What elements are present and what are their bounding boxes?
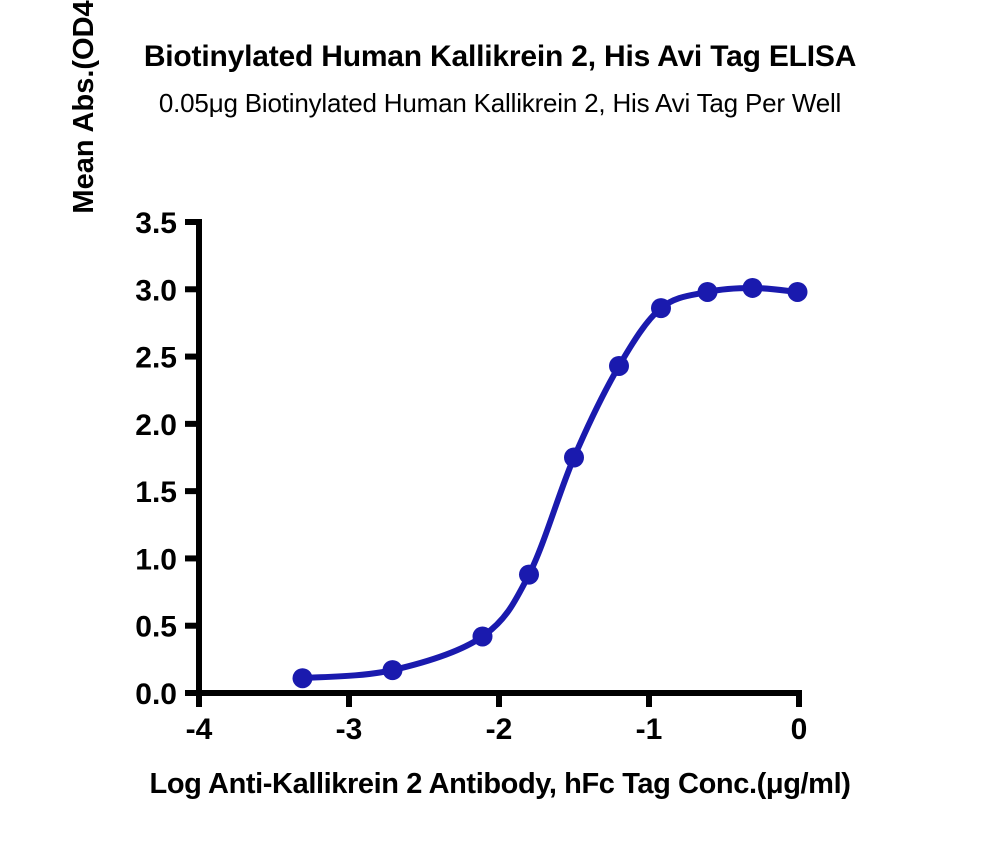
series-curve-group: [303, 288, 798, 678]
y-tick-label: 1.5: [135, 476, 177, 509]
y-tick-label: 1.0: [135, 543, 177, 576]
data-point-marker: [383, 660, 403, 680]
y-tick-label: 3.5: [135, 207, 177, 240]
elisa-chart-figure: Biotinylated Human Kallikrein 2, His Avi…: [0, 0, 1000, 849]
data-point-marker: [564, 448, 584, 468]
data-point-marker: [473, 626, 493, 646]
y-tick-label: 2.0: [135, 409, 177, 442]
y-tick-label: 0.5: [135, 611, 177, 644]
data-point-marker: [743, 278, 763, 298]
x-tick-label: -4: [186, 713, 213, 746]
y-tick-label: 0.0: [135, 678, 177, 711]
series-line-0: [303, 288, 798, 678]
y-tick-label: 2.5: [135, 342, 177, 375]
x-tick-label: -3: [336, 713, 363, 746]
y-tick-label: 3.0: [135, 274, 177, 307]
y-tick-label-group: 0.00.51.01.52.02.53.03.5: [135, 207, 177, 711]
x-tick-label: -1: [636, 713, 663, 746]
plot-area: 0.00.51.01.52.02.53.03.5 -4-3-2-10: [0, 0, 1000, 849]
data-point-marker: [788, 282, 808, 302]
data-point-marker: [651, 298, 671, 318]
x-tick-label: -2: [486, 713, 513, 746]
data-point-marker: [698, 282, 718, 302]
series-marker-group: [293, 278, 808, 688]
data-point-marker: [293, 668, 313, 688]
x-tick-label-group: -4-3-2-10: [186, 713, 808, 746]
x-tick-label: 0: [791, 713, 808, 746]
data-point-marker: [519, 565, 539, 585]
data-point-marker: [609, 356, 629, 376]
